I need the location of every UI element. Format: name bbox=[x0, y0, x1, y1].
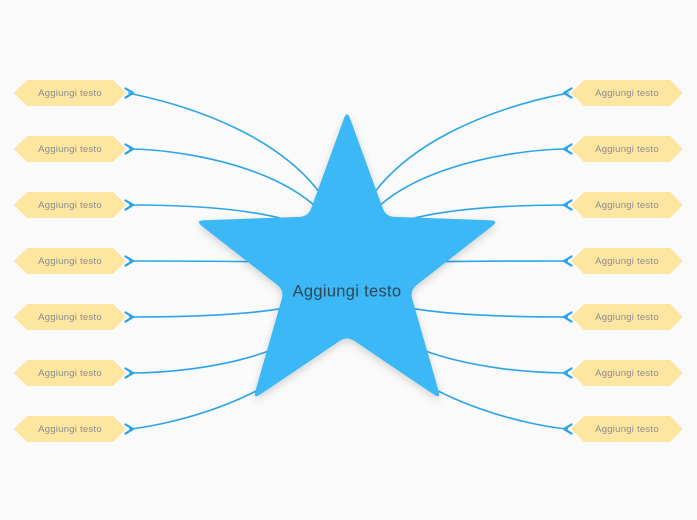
node-left-7[interactable]: Aggiungi testo bbox=[14, 416, 126, 442]
central-star-shape[interactable] bbox=[199, 114, 495, 396]
connector-arrowhead-icon bbox=[126, 88, 134, 97]
mindmap-diagram: Aggiungi testo Aggiungi testoAggiungi te… bbox=[0, 0, 697, 520]
node-right-2[interactable]: Aggiungi testo bbox=[571, 136, 683, 162]
node-hexagon-shape[interactable] bbox=[14, 136, 126, 162]
mindmap-canvas[interactable]: Aggiungi testo Aggiungi testoAggiungi te… bbox=[0, 0, 697, 520]
connector-arrowhead-icon bbox=[564, 88, 572, 97]
node-hexagon-shape[interactable] bbox=[14, 248, 126, 274]
node-hexagon-shape[interactable] bbox=[14, 304, 126, 330]
node-left-5[interactable]: Aggiungi testo bbox=[14, 304, 126, 330]
node-right-5[interactable]: Aggiungi testo bbox=[571, 304, 683, 330]
node-right-1[interactable]: Aggiungi testo bbox=[571, 80, 683, 106]
node-hexagon-shape[interactable] bbox=[571, 192, 683, 218]
node-left-4[interactable]: Aggiungi testo bbox=[14, 248, 126, 274]
node-left-3[interactable]: Aggiungi testo bbox=[14, 192, 126, 218]
node-right-7[interactable]: Aggiungi testo bbox=[571, 416, 683, 442]
node-hexagon-shape[interactable] bbox=[14, 360, 126, 386]
node-hexagon-shape[interactable] bbox=[14, 192, 126, 218]
central-star-layer[interactable]: Aggiungi testo bbox=[199, 114, 495, 396]
node-right-6[interactable]: Aggiungi testo bbox=[571, 360, 683, 386]
node-hexagon-shape[interactable] bbox=[571, 360, 683, 386]
node-left-6[interactable]: Aggiungi testo bbox=[14, 360, 126, 386]
node-hexagon-shape[interactable] bbox=[571, 136, 683, 162]
node-left-1[interactable]: Aggiungi testo bbox=[14, 80, 126, 106]
node-left-2[interactable]: Aggiungi testo bbox=[14, 136, 126, 162]
node-hexagon-shape[interactable] bbox=[571, 80, 683, 106]
node-hexagon-shape[interactable] bbox=[571, 304, 683, 330]
node-hexagon-shape[interactable] bbox=[14, 416, 126, 442]
node-hexagon-shape[interactable] bbox=[571, 416, 683, 442]
node-right-3[interactable]: Aggiungi testo bbox=[571, 192, 683, 218]
node-hexagon-shape[interactable] bbox=[571, 248, 683, 274]
node-right-4[interactable]: Aggiungi testo bbox=[571, 248, 683, 274]
node-hexagon-shape[interactable] bbox=[14, 80, 126, 106]
